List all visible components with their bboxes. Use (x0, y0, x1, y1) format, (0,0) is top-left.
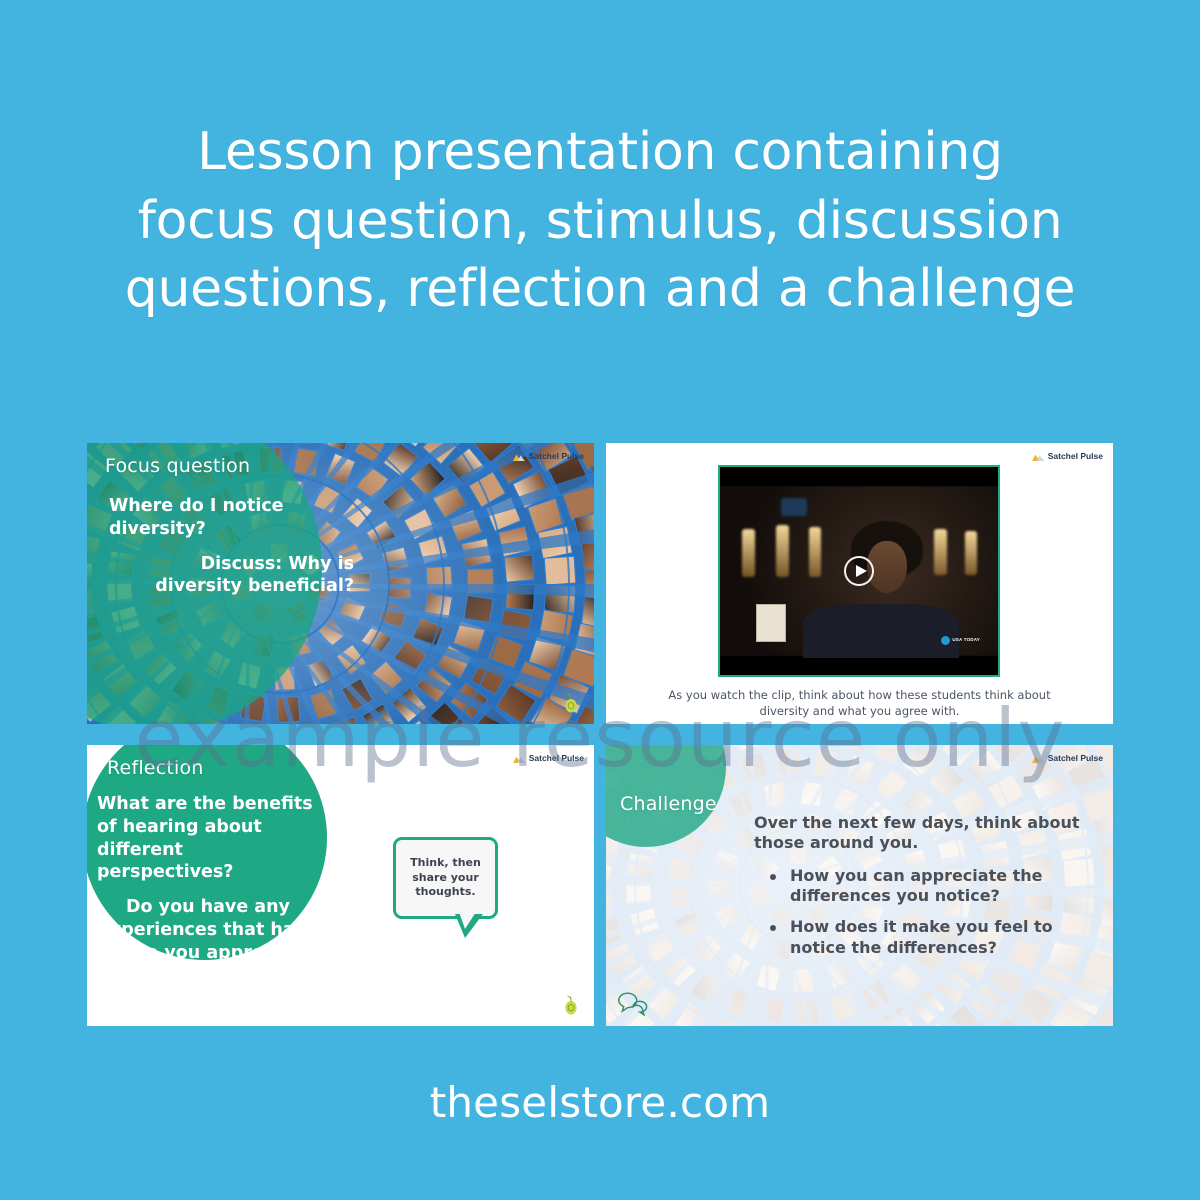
mosaic-tile (226, 722, 255, 724)
mosaic-tile (437, 644, 473, 679)
footer-store-url: theselstore.com (0, 1078, 1200, 1127)
mosaic-tile (713, 902, 741, 929)
mosaic-tile (321, 443, 352, 452)
mosaic-tile (832, 786, 861, 816)
mosaic-tile (850, 1017, 882, 1026)
mosaic-tile (388, 577, 412, 599)
mosaic-tile (584, 570, 594, 600)
video-source-badge-text: USA TODAY (952, 638, 980, 643)
brand-logo-text: Satchel Pulse (1048, 451, 1103, 461)
mosaic-tile (543, 555, 576, 585)
speech-bubble-text: Think, then share your thoughts. (396, 856, 495, 901)
mosaic-tile (913, 745, 951, 750)
mosaic-tile (606, 941, 638, 975)
mosaic-tile (941, 745, 980, 768)
mosaic-tile (689, 972, 722, 1006)
mosaic-tile (722, 986, 753, 1018)
mosaic-tile (720, 951, 750, 982)
slide-thumbnail-reflection[interactable]: Satchel Pulse Reflection What are the be… (87, 745, 594, 1026)
mosaic-tile (356, 466, 389, 500)
mosaic-tile (580, 540, 594, 573)
brand-logo: Satchel Pulse (1032, 753, 1103, 763)
mosaic-tile (812, 749, 839, 778)
mosaic-tile (844, 755, 875, 787)
mosaic-tile (498, 609, 532, 641)
video-still-subject-torso (803, 604, 959, 658)
mosaic-tile (1075, 1022, 1113, 1026)
mosaic-tile (829, 992, 858, 1023)
mosaic-tile (341, 678, 373, 711)
mosaic-tile (991, 745, 1033, 765)
mosaic-tile (666, 886, 692, 910)
chat-bubbles-icon (616, 990, 652, 1018)
slide-kicker: Reflection (107, 757, 204, 779)
mosaic-tile (306, 658, 334, 687)
mosaic-tile (662, 953, 696, 987)
mosaic-tile (448, 510, 483, 543)
video-player[interactable]: USA TODAY (718, 465, 1000, 677)
mountains-icon (1032, 452, 1044, 461)
slide-question-block: What are the benefits of hearing about d… (97, 793, 319, 987)
mosaic-tile (708, 1015, 741, 1026)
mosaic-tile (277, 696, 301, 723)
mosaic-tile (1031, 772, 1071, 811)
pear-icon (562, 692, 580, 714)
mosaic-tile (1014, 986, 1055, 1026)
mosaic-tile (1110, 974, 1113, 1016)
brand-logo-text: Satchel Pulse (529, 753, 584, 763)
challenge-lead: Over the next few days, think about thos… (754, 813, 1099, 854)
mosaic-tile (317, 618, 346, 647)
mosaic-tile (727, 789, 757, 820)
mosaic-tile (382, 443, 418, 478)
mosaic-tile (504, 555, 535, 584)
page-title: Lesson presentation containing focus que… (0, 118, 1200, 324)
mosaic-tile (707, 878, 729, 898)
play-icon[interactable] (844, 556, 874, 586)
mosaic-tile (288, 443, 315, 444)
mosaic-tile (675, 1002, 710, 1026)
mosaic-tile (759, 996, 786, 1025)
mosaic-tile (293, 447, 320, 476)
mosaic-tile (1066, 757, 1109, 798)
mosaic-tile (928, 763, 965, 800)
mosaic-tile (544, 583, 577, 613)
mosaic-tile (606, 964, 611, 1001)
mosaic-tile (674, 910, 704, 939)
mosaic-tile (945, 1004, 984, 1026)
mosaic-tile (366, 519, 397, 549)
mosaic-tile (382, 484, 416, 518)
challenge-body: Over the next few days, think about thos… (754, 813, 1099, 969)
page-title-line-3: questions, reflection and a challenge (0, 255, 1200, 324)
mosaic-tile (331, 715, 363, 724)
brand-logo: Satchel Pulse (513, 451, 584, 461)
mosaic-tile (875, 768, 908, 802)
brand-logo: Satchel Pulse (1032, 451, 1103, 461)
mosaic-tile (800, 781, 823, 807)
mosaic-tile (969, 983, 1008, 1022)
mosaic-tile (336, 644, 367, 676)
slide-thumbnail-challenge[interactable]: Satchel Pulse Challenge Over the next fe… (606, 745, 1113, 1026)
mosaic-tile (796, 998, 820, 1025)
mosaic-tile (391, 686, 427, 723)
mosaic-tile (667, 857, 694, 882)
mosaic-tile (771, 745, 797, 746)
mosaic-tile (1067, 975, 1110, 1016)
mosaic-tile (325, 453, 356, 485)
mosaic-tile (353, 443, 387, 463)
mosaic-tile (537, 526, 573, 559)
mosaic-tile (917, 1021, 955, 1026)
mosaic-tile (910, 988, 946, 1025)
mosaic-tile (462, 594, 493, 622)
mosaic-tile (606, 864, 613, 890)
slide-thumbnail-stimulus[interactable]: Satchel Pulse USA TODAY (606, 443, 1113, 724)
mountains-icon (513, 754, 525, 763)
mosaic-tile (460, 538, 492, 568)
speech-bubble: Think, then share your thoughts. (393, 837, 498, 919)
mosaic-tile (504, 583, 535, 611)
mosaic-tile (379, 601, 408, 629)
list-item: How you can appreciate the differences y… (766, 866, 1099, 907)
challenge-bullet-list: How you can appreciate the differences y… (754, 866, 1099, 958)
video-still-picture-frame (756, 604, 786, 642)
video-source-badge: USA TODAY (941, 636, 980, 645)
mosaic-tile (606, 1019, 619, 1026)
mosaic-tile (1099, 842, 1113, 875)
mosaic-tile (807, 745, 834, 746)
mountains-icon (513, 452, 525, 461)
mosaic-tile (1049, 998, 1093, 1026)
mosaic-tile (777, 749, 801, 776)
mosaic-tile (745, 1024, 774, 1026)
mosaic-tile (1103, 872, 1113, 902)
question-main: Where do I notice diversity? (109, 495, 354, 541)
mountains-icon (1032, 754, 1044, 763)
mosaic-tile (1028, 1021, 1072, 1026)
mosaic-tile (394, 640, 428, 673)
mosaic-tile (418, 536, 449, 565)
mosaic-tile (626, 853, 655, 880)
mosaic-tile (872, 745, 906, 765)
brand-logo: Satchel Pulse (513, 753, 584, 763)
mosaic-tile (935, 968, 972, 1004)
mosaic-tile (466, 568, 494, 593)
mosaic-tile (692, 933, 724, 964)
mosaic-tile (382, 547, 410, 574)
mosaic-tile (992, 1008, 1034, 1026)
mosaic-tile (1027, 745, 1071, 753)
mosaic-tile (1100, 898, 1113, 931)
question-follow-up: Discuss: Why is diversity beneficial? (109, 553, 354, 599)
mosaic-tile (712, 848, 740, 875)
list-item: How does it make you feel to notice the … (766, 917, 1099, 958)
mosaic-tile (965, 749, 1004, 788)
mosaic-tile (339, 597, 367, 624)
page-title-line-2: focus question, stimulus, discussion (0, 187, 1200, 256)
mosaic-tile (370, 661, 404, 695)
question-main: What are the benefits of hearing about d… (97, 793, 319, 884)
mosaic-tile (412, 617, 444, 648)
slide-kicker: Focus question (105, 455, 250, 477)
mosaic-tile (646, 1024, 684, 1026)
question-follow-up: Do you have any experiences that have ma… (97, 896, 319, 987)
mosaic-tile (986, 773, 1025, 810)
pear-icon (562, 994, 580, 1016)
mosaic-tile (606, 917, 624, 948)
brand-logo-text: Satchel Pulse (529, 451, 584, 461)
mosaic-tile (901, 745, 937, 780)
mosaic-tile (793, 968, 815, 993)
mosaic-tile (1073, 745, 1113, 750)
slide-thumbnail-focus-question[interactable]: Satchel Pulse Focus question Where do I … (87, 443, 594, 724)
mosaic-tile (362, 703, 397, 724)
mosaic-tile (642, 931, 675, 963)
mosaic-tile (606, 891, 614, 919)
mosaic-tile (426, 566, 453, 590)
mosaic-tile (361, 625, 393, 656)
mosaic-tile (403, 508, 436, 540)
mosaic-tile (625, 882, 652, 906)
mosaic-tile (496, 525, 531, 557)
video-caption: As you watch the clip, think about how t… (646, 688, 1073, 720)
mosaic-tile (1108, 755, 1113, 798)
page-title-line-1: Lesson presentation containing (0, 118, 1200, 187)
mosaic-tile (860, 980, 892, 1013)
mosaic-tile (629, 907, 660, 936)
mosaic-tile (763, 781, 788, 808)
slide-question-block: Where do I notice diversity? Discuss: Wh… (109, 495, 354, 598)
mosaic-tile (423, 592, 452, 619)
mosaic-tile (310, 690, 339, 721)
mosaic-tile (740, 751, 769, 782)
mosaic-tile (733, 745, 764, 752)
mosaic-tile (840, 745, 871, 754)
mosaic-tile (1094, 999, 1113, 1026)
slide-thumbnail-grid: Satchel Pulse Focus question Where do I … (87, 443, 1113, 1026)
mosaic-tile (452, 620, 486, 652)
brand-logo-text: Satchel Pulse (1048, 753, 1103, 763)
mosaic-tile (881, 1005, 916, 1026)
speech-bubble-tail (455, 914, 483, 938)
slide-kicker: Challenge (620, 793, 717, 815)
